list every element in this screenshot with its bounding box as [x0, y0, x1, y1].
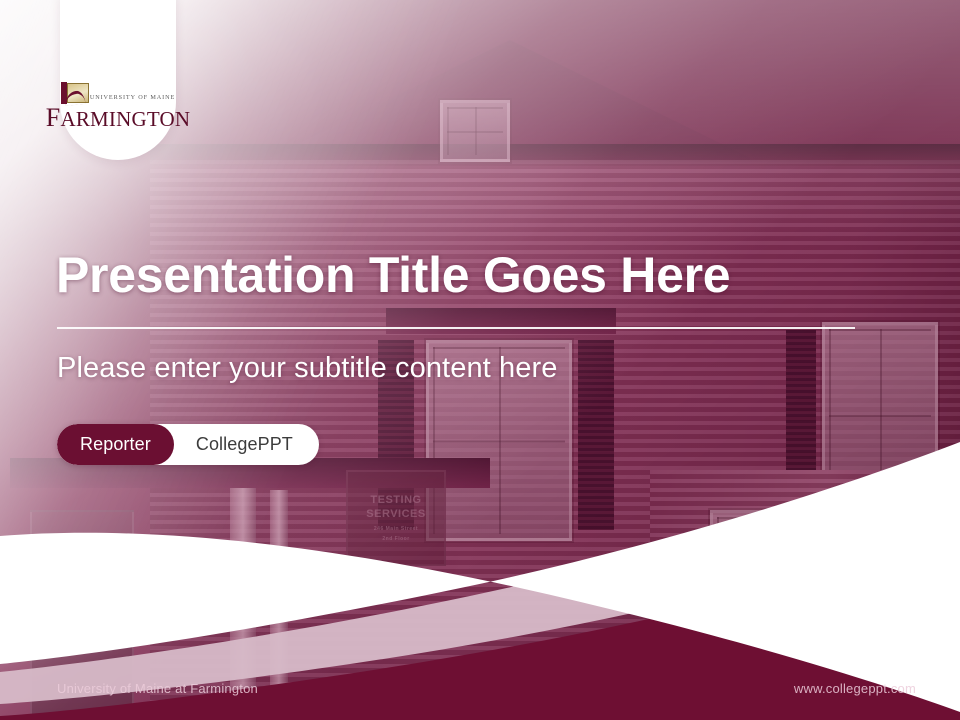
logo-institution-text: University of Maine: [90, 94, 175, 101]
page-subtitle: Please enter your subtitle content here: [57, 352, 557, 385]
title-divider: [57, 327, 855, 329]
footer-institution: University of Maine at Farmington: [57, 681, 258, 696]
footer-website[interactable]: www.collegeppt.com: [794, 681, 916, 696]
logo-wordmark: FARMINGTON: [46, 105, 190, 131]
page-title: Presentation Title Goes Here: [56, 248, 896, 303]
logo-wordmark-cap: F: [46, 103, 61, 132]
university-logo: University of Maine FARMINGTON: [60, 82, 176, 131]
logo-wordmark-rest: ARMINGTON: [60, 107, 190, 131]
logo-tab: University of Maine FARMINGTON: [60, 0, 176, 160]
reporter-name: CollegePPT: [174, 424, 319, 465]
presentation-slide: TESTING SERVICES 246 Main Street 2nd Flo…: [0, 0, 960, 720]
reporter-label: Reporter: [57, 424, 174, 465]
reporter-badge[interactable]: Reporter CollegePPT: [57, 424, 319, 465]
wave-decoration: [0, 420, 960, 720]
logo-crest-row: University of Maine: [61, 82, 175, 104]
university-crest-icon: [61, 82, 87, 104]
